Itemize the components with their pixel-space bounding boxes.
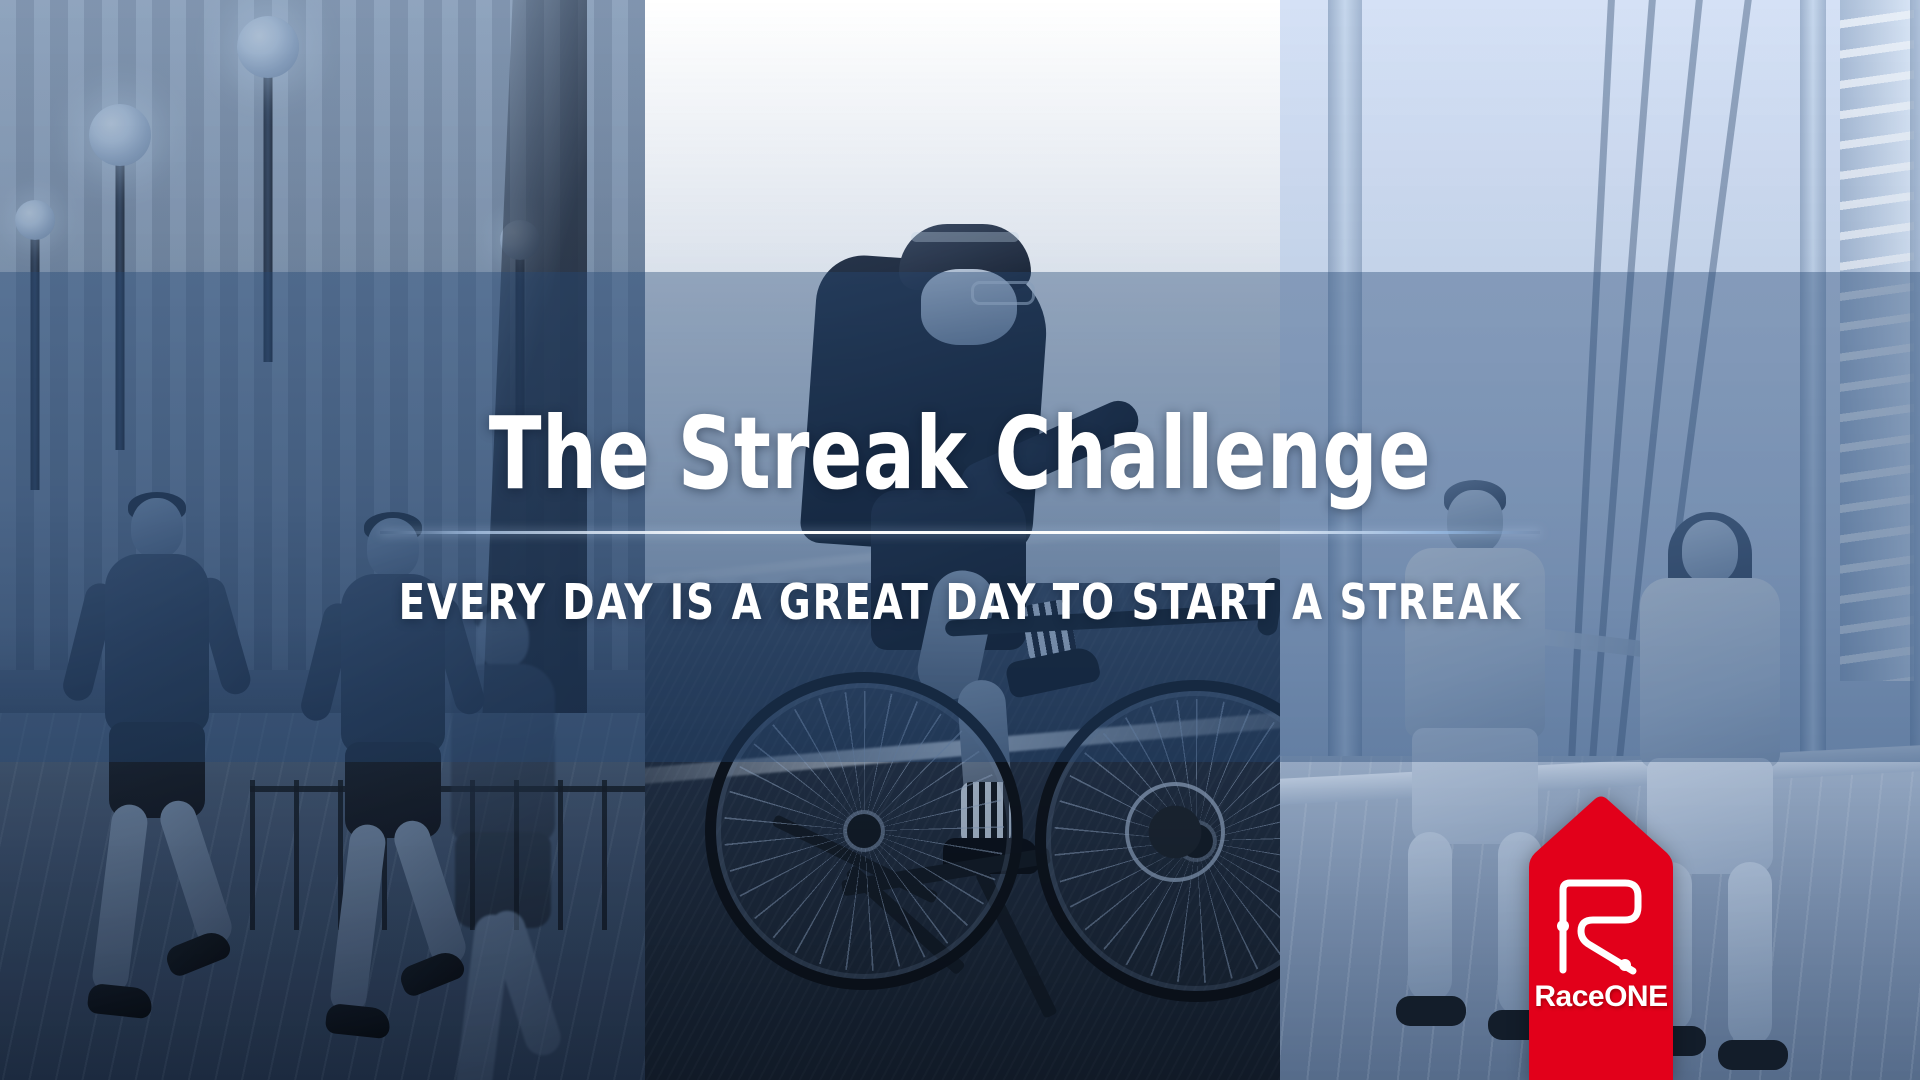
page-title: The Streak Challenge xyxy=(489,403,1431,505)
hero-banner: The Streak Challenge EVERY DAY IS A GREA… xyxy=(0,0,1920,1080)
track-marker-dot xyxy=(1557,920,1569,932)
page-subtitle: EVERY DAY IS A GREAT DAY TO START A STRE… xyxy=(398,574,1521,631)
raceone-logo-shape xyxy=(1513,795,1689,1080)
track-marker-dot xyxy=(1619,959,1631,971)
raceone-wordmark: RaceONE xyxy=(1513,980,1689,1014)
title-divider xyxy=(380,531,1540,534)
raceone-logo[interactable]: RaceONE xyxy=(1513,795,1689,1080)
hero-content: The Streak Challenge EVERY DAY IS A GREA… xyxy=(0,272,1920,762)
